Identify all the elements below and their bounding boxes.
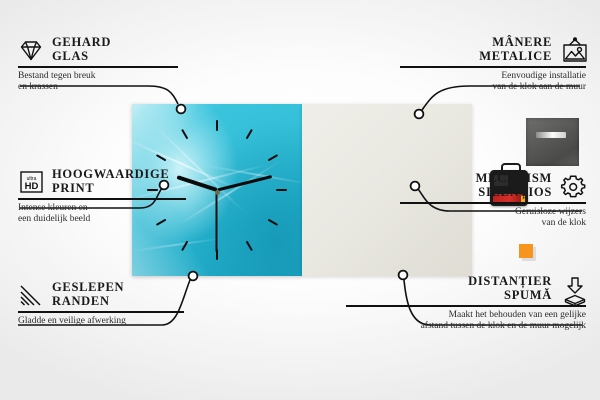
callout-desc-line2: van de klok bbox=[542, 218, 586, 228]
callout-desc-line2: een duidelijk beeld bbox=[18, 214, 90, 224]
callout-desc-line1: Bestand tegen breuk bbox=[18, 71, 96, 81]
callout-title-line2: METALICE bbox=[479, 49, 552, 63]
callout-silent-mechanism: MECANISM SILENȚIOS Geruisloze wijzers va… bbox=[400, 172, 586, 230]
second-hand bbox=[216, 190, 218, 252]
minute-hand bbox=[217, 175, 272, 191]
metal-hanger-plate bbox=[526, 118, 579, 166]
foam-spacer-square bbox=[519, 244, 533, 258]
callout-desc-line1: Intense kleuren en bbox=[18, 203, 88, 213]
callout-rule bbox=[18, 66, 178, 68]
callout-title-line1: HOOGWAARDIGE bbox=[52, 167, 169, 181]
diamond-icon bbox=[18, 37, 44, 63]
callout-tempered-glass: GEHARD GLAS Bestand tegen breuk en krass… bbox=[18, 36, 188, 94]
callout-title-line1: MÂNERE bbox=[492, 35, 552, 49]
picture-frame-hanging-icon bbox=[560, 37, 586, 63]
callout-rule bbox=[18, 311, 184, 313]
gear-icon bbox=[560, 173, 586, 199]
callout-title-line1: GESLEPEN bbox=[52, 280, 124, 294]
callout-title-line1: DISTANȚIER bbox=[468, 274, 552, 288]
callout-rule bbox=[18, 198, 186, 200]
callout-title-line2: GLAS bbox=[52, 49, 89, 63]
callout-desc-line1: Maakt het behouden van een gelijke bbox=[449, 310, 586, 320]
hand-pivot bbox=[215, 190, 220, 195]
callout-desc-line2: afstand tussen de klok en de muur mogeli… bbox=[421, 321, 586, 331]
callout-title-line2: RANDEN bbox=[52, 294, 110, 308]
callout-metal-handles: MÂNERE METALICE Eenvoudige installatie bbox=[400, 36, 586, 94]
callout-ground-edges: GESLEPEN RANDEN Gladde en veilige afwerk… bbox=[18, 281, 194, 327]
callout-desc-line2: en krassen bbox=[18, 82, 58, 92]
beveled-edges-icon bbox=[18, 282, 44, 308]
callout-desc-line2: van de klok aan de muur bbox=[492, 82, 586, 92]
callout-title-line2: SPUMĂ bbox=[504, 288, 552, 302]
callout-desc-line1: Geruisloze wijzers bbox=[515, 207, 586, 217]
callout-foam-spacer: DISTANȚIER SPUMĂ Maakt het behouden van … bbox=[346, 275, 586, 333]
press-down-arrow-icon bbox=[560, 276, 586, 302]
ultra-hd-icon: ultra HD bbox=[18, 169, 44, 195]
infographic-canvas: GEHARD GLAS Bestand tegen breuk en krass… bbox=[0, 0, 600, 400]
callout-title-line1: GEHARD bbox=[52, 35, 111, 49]
svg-text:HD: HD bbox=[25, 181, 39, 192]
callout-rule bbox=[400, 66, 586, 68]
callout-desc-line1: Gladde en veilige afwerking bbox=[18, 316, 126, 326]
callout-rule bbox=[400, 202, 586, 204]
callout-title-line2: SILENȚIOS bbox=[478, 185, 552, 199]
callout-title-line2: PRINT bbox=[52, 181, 94, 195]
callout-desc-line1: Eenvoudige installatie bbox=[501, 71, 586, 81]
callout-title-line1: MECANISM bbox=[476, 171, 552, 185]
callout-high-quality-print: ultra HD HOOGWAARDIGE PRINT Intense kleu… bbox=[18, 168, 196, 226]
callout-rule bbox=[346, 305, 586, 307]
